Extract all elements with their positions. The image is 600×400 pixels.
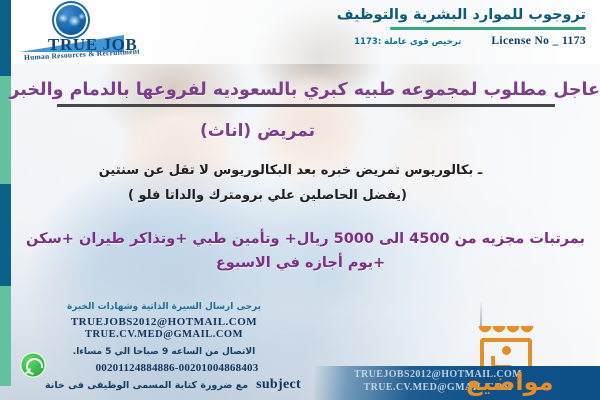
salary-benefits-line-1: بمرتبات مجزيه من 4500 الى 5000 ريال+ وتأ… [11,231,600,247]
license-number-arabic: ترخيص قوى عاملة :1173 [354,37,461,47]
requirement-qualification: ـ بكالوريوس تمريض خبره بعد البكالوريوس ل… [11,163,600,178]
salary-benefits-line-2: +يوم أجازه في الاسبوع [11,255,600,271]
main-content: عاجل مطلوب لمجموعه طبيه كبري بالسعوديه ل… [11,64,600,271]
job-headline: عاجل مطلوب لمجموعه طبيه كبري بالسعوديه ل… [11,80,600,100]
watermark-logo: مواضيع [462,366,594,398]
email-gmail[interactable]: TRUE.CV.MED@GMAIL.COM [14,329,314,340]
company-name: تروجوب للموارد البشرية والتوظيف [337,6,586,24]
call-hours: الاتصال من الساعه 9 صباحا الي 5 مساءا. [14,347,314,357]
headline-divider [57,104,555,107]
license-number-english: License No _ 1173 [491,35,586,47]
requirement-preference: (يفضل الحاصلين علي برومترك والداتا فلو ) [11,188,600,203]
subject-instruction-row: subject مع ضرورة كتابة المسمى الوظيفى فى… [14,377,314,393]
whatsapp-icon[interactable] [20,352,46,378]
phone-numbers[interactable]: 00201124884886-00201004868403 [14,362,314,374]
shop-icon-awning [478,326,534,337]
shop-icon-dot [502,346,511,355]
true-job-logo: TRUE JOB Human Resources & Recruitment [18,2,130,64]
globe-icon [54,3,88,37]
job-title: تمريض (اناث) [11,121,600,141]
edge-bar-teal-lower [0,286,11,386]
subject-keyword: subject [256,377,301,393]
email-hotmail[interactable]: TRUEJOBS2012@HOTMAIL.COM [14,316,314,328]
edge-bar-blue-top [0,0,11,76]
subject-note: مع ضرورة كتابة المسمى الوظيفى فى خانة [45,380,248,391]
send-cv-note: يرجى ارسال السيرة الذاتية وشهادات الخبرة [14,302,314,312]
contact-block: يرجى ارسال السيرة الذاتية وشهادات الخبرة… [14,302,314,393]
shop-icon-pole [480,300,482,326]
header-divider [390,27,586,30]
license-row: ترخيص قوى عاملة :1173 License No _ 1173 [337,35,586,47]
edge-bar-blue-middle [0,184,11,286]
header-right-block: تروجوب للموارد البشرية والتوظيف ترخيص قو… [337,6,586,47]
